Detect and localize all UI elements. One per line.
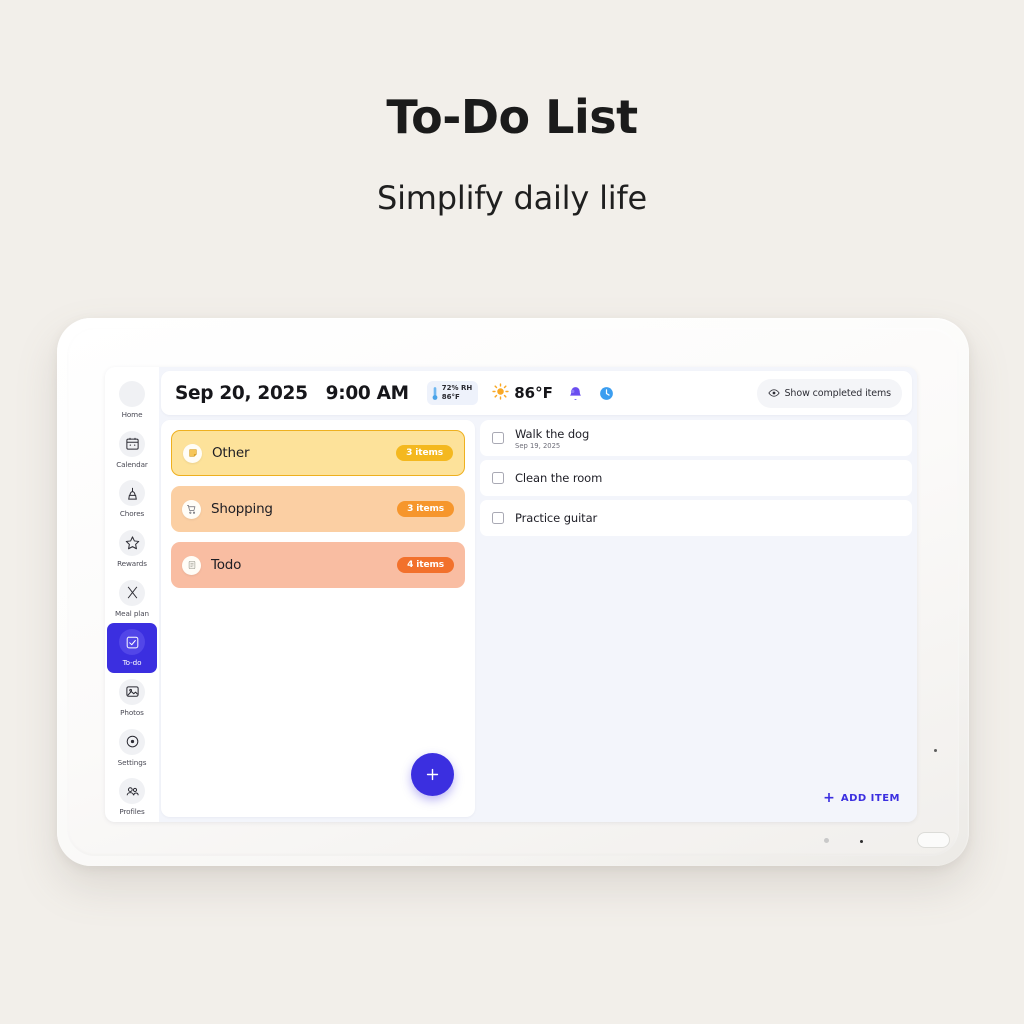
hero-section: To-Do List Simplify daily life xyxy=(0,92,1024,217)
task-date: Sep 19, 2025 xyxy=(515,442,589,450)
category-name: Other xyxy=(212,445,249,461)
weather-chip[interactable]: 86°F xyxy=(492,383,553,404)
humidity-rh: 72% RH xyxy=(442,384,472,392)
star-icon xyxy=(119,530,145,556)
add-item-button[interactable]: + ADD ITEM xyxy=(823,791,900,805)
task-title: Practice guitar xyxy=(515,511,597,525)
sidebar-item-to-do[interactable]: To-do xyxy=(107,623,157,673)
sidebar-item-chores[interactable]: Chores xyxy=(107,474,157,524)
task-row[interactable]: Clean the room xyxy=(480,460,912,496)
plus-icon: + xyxy=(823,791,835,805)
task-row[interactable]: Practice guitar xyxy=(480,500,912,536)
task-title: Walk the dog xyxy=(515,427,589,441)
category-count-badge: 3 items xyxy=(396,445,453,461)
weather-temperature: 86°F xyxy=(514,384,553,402)
task-title: Clean the room xyxy=(515,471,602,485)
sidebar-item-meal-plan[interactable]: Meal plan xyxy=(107,574,157,624)
cart-icon xyxy=(182,500,201,519)
sidebar-item-label: Profiles xyxy=(119,807,144,816)
home-icon xyxy=(119,381,145,407)
sidebar-item-label: Rewards xyxy=(117,559,147,568)
photo-icon xyxy=(119,679,145,705)
people-icon xyxy=(119,778,145,804)
calendar-icon xyxy=(119,431,145,457)
humidity-temp: 86°F xyxy=(442,393,460,401)
task-list-panel: Walk the dog Sep 19, 2025 Clean the room… xyxy=(480,420,912,817)
eye-icon xyxy=(768,384,780,403)
sidebar-item-label: Meal plan xyxy=(115,609,149,618)
sidebar-item-label: Settings xyxy=(118,758,147,767)
sidebar-item-label: Photos xyxy=(120,708,144,717)
clock-icon[interactable] xyxy=(598,385,615,402)
category-list-panel: Other 3 items Shopping 3 items xyxy=(161,420,475,817)
device-side-sensor xyxy=(934,749,937,752)
page-title: To-Do List xyxy=(0,92,1024,143)
thermometer-icon xyxy=(431,386,439,401)
utensils-icon xyxy=(119,580,145,606)
task-checkbox[interactable] xyxy=(492,472,504,484)
content-area: Other 3 items Shopping 3 items xyxy=(161,420,912,817)
add-category-fab[interactable] xyxy=(411,753,454,796)
sidebar-nav: Home Calendar Chores Rewards Meal plan xyxy=(105,367,159,822)
humidity-values: 72% RH 86°F xyxy=(442,384,472,402)
top-status-bar: Sep 20, 2025 9:00 AM 72% RH 86°F xyxy=(161,371,912,415)
sidebar-item-home[interactable]: Home xyxy=(107,375,157,425)
sidebar-item-profiles[interactable]: Profiles xyxy=(107,772,157,822)
plus-icon xyxy=(424,766,441,783)
category-count-badge: 4 items xyxy=(397,557,454,573)
sidebar-item-label: Chores xyxy=(120,509,144,518)
main-content: Sep 20, 2025 9:00 AM 72% RH 86°F xyxy=(159,367,917,822)
sidebar-item-settings[interactable]: Settings xyxy=(107,723,157,773)
sidebar-item-rewards[interactable]: Rewards xyxy=(107,524,157,574)
sidebar-item-label: To-do xyxy=(123,658,142,667)
device-camera-dot xyxy=(860,840,863,843)
task-row[interactable]: Walk the dog Sep 19, 2025 xyxy=(480,420,912,456)
task-text-group: Practice guitar xyxy=(515,511,597,525)
task-checkbox[interactable] xyxy=(492,432,504,444)
current-date: Sep 20, 2025 xyxy=(175,383,308,404)
device-sensor-dot xyxy=(824,838,829,843)
sidebar-item-calendar[interactable]: Calendar xyxy=(107,425,157,475)
tablet-screen: Home Calendar Chores Rewards Meal plan xyxy=(105,367,917,822)
checkbox-icon xyxy=(119,629,145,655)
sticky-note-icon xyxy=(183,444,202,463)
task-checkbox[interactable] xyxy=(492,512,504,524)
gear-icon xyxy=(119,729,145,755)
broom-icon xyxy=(119,480,145,506)
bell-icon[interactable] xyxy=(567,385,584,402)
category-count-badge: 3 items xyxy=(397,501,454,517)
clipboard-icon xyxy=(182,556,201,575)
category-card-shopping[interactable]: Shopping 3 items xyxy=(171,486,465,532)
category-card-other[interactable]: Other 3 items xyxy=(171,430,465,476)
sun-icon xyxy=(492,383,509,404)
sidebar-item-photos[interactable]: Photos xyxy=(107,673,157,723)
add-item-label: ADD ITEM xyxy=(841,793,900,804)
task-text-group: Walk the dog Sep 19, 2025 xyxy=(515,427,589,450)
show-completed-items-button[interactable]: Show completed items xyxy=(757,379,903,408)
page-subtitle: Simplify daily life xyxy=(0,179,1024,217)
category-name: Todo xyxy=(211,557,241,573)
show-completed-label: Show completed items xyxy=(785,388,892,399)
category-name: Shopping xyxy=(211,501,273,517)
current-time: 9:00 AM xyxy=(326,383,409,404)
sidebar-item-label: Home xyxy=(122,410,143,419)
category-card-todo[interactable]: Todo 4 items xyxy=(171,542,465,588)
sidebar-item-label: Calendar xyxy=(116,460,148,469)
device-power-button[interactable] xyxy=(917,832,950,848)
humidity-chip[interactable]: 72% RH 86°F xyxy=(427,381,478,405)
task-text-group: Clean the room xyxy=(515,471,602,485)
